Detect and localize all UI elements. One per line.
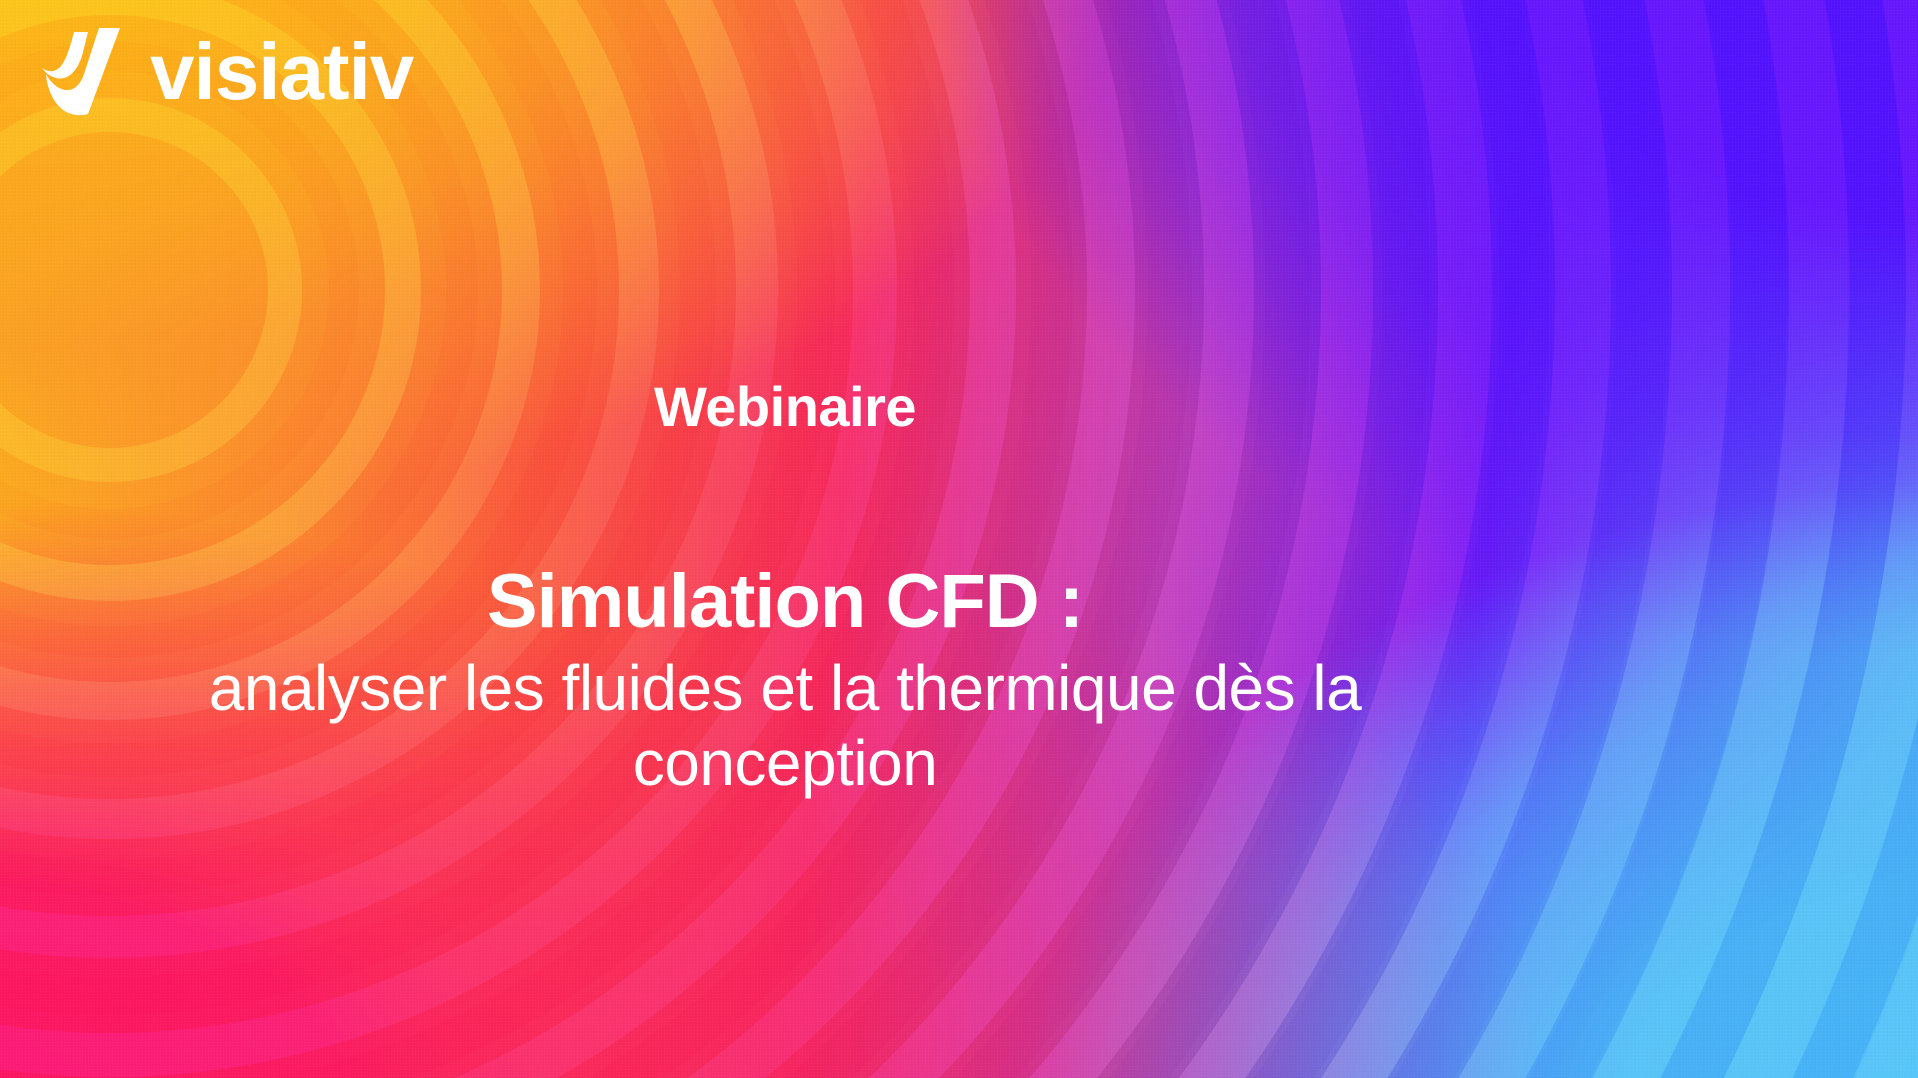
webinar-title-banner: visiativ Webinaire Simulation CFD : anal… [0, 0, 1918, 1078]
page-subtitle: analyser les fluides et la thermique dès… [115, 651, 1455, 802]
visiativ-wordmark: visiativ [150, 32, 413, 112]
title-content-block: Webinaire Simulation CFD : analyser les … [0, 0, 1570, 1078]
visiativ-checkmark-swoosh-icon [36, 26, 132, 118]
eyebrow-label: Webinaire [654, 376, 916, 438]
visiativ-logo[interactable]: visiativ [36, 26, 413, 118]
page-title: Simulation CFD : [487, 558, 1083, 645]
